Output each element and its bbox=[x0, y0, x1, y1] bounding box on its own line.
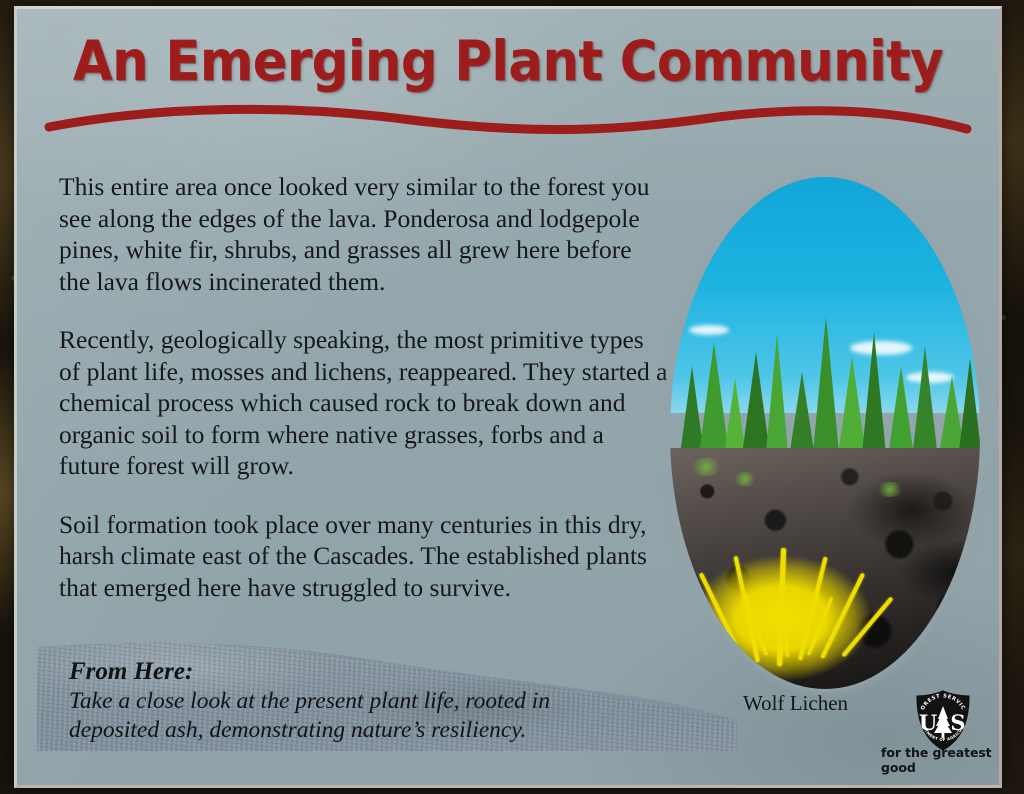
from-here-label: From Here: bbox=[69, 657, 609, 687]
sign-header: An Emerging Plant Community bbox=[17, 9, 999, 137]
oval-photograph bbox=[670, 177, 980, 689]
interpretive-sign-panel: An Emerging Plant Community This entire … bbox=[14, 6, 1002, 788]
shield-svg: FOREST SERVICE U S DEPARTMENT OF AGRICUL… bbox=[914, 690, 972, 752]
forest-service-shield-icon: FOREST SERVICE U S DEPARTMENT OF AGRICUL… bbox=[914, 690, 972, 752]
from-here-line-1: Take a close look at the present plant l… bbox=[69, 687, 609, 716]
from-here-block: From Here: Take a close look at the pres… bbox=[69, 657, 609, 745]
body-paragraph-1: This entire area once looked very simila… bbox=[59, 171, 669, 297]
body-paragraph-2: Recently, geologically speaking, the mos… bbox=[59, 324, 669, 482]
page-title: An Emerging Plant Community bbox=[51, 29, 964, 93]
photo-scene bbox=[670, 177, 980, 689]
from-here-line-2: deposited ash, demonstrating nature’s re… bbox=[69, 716, 609, 745]
body-paragraph-3: Soil formation took place over many cent… bbox=[59, 509, 669, 604]
decorative-swoosh-divider bbox=[43, 103, 973, 137]
photo-caption: Wolf Lichen bbox=[743, 691, 848, 716]
agency-tagline: for the greatest good bbox=[881, 745, 999, 775]
moss-patch bbox=[875, 482, 905, 497]
moss-patch bbox=[732, 472, 758, 486]
moss-patch bbox=[689, 458, 723, 476]
body-text-column: This entire area once looked very simila… bbox=[59, 171, 669, 603]
